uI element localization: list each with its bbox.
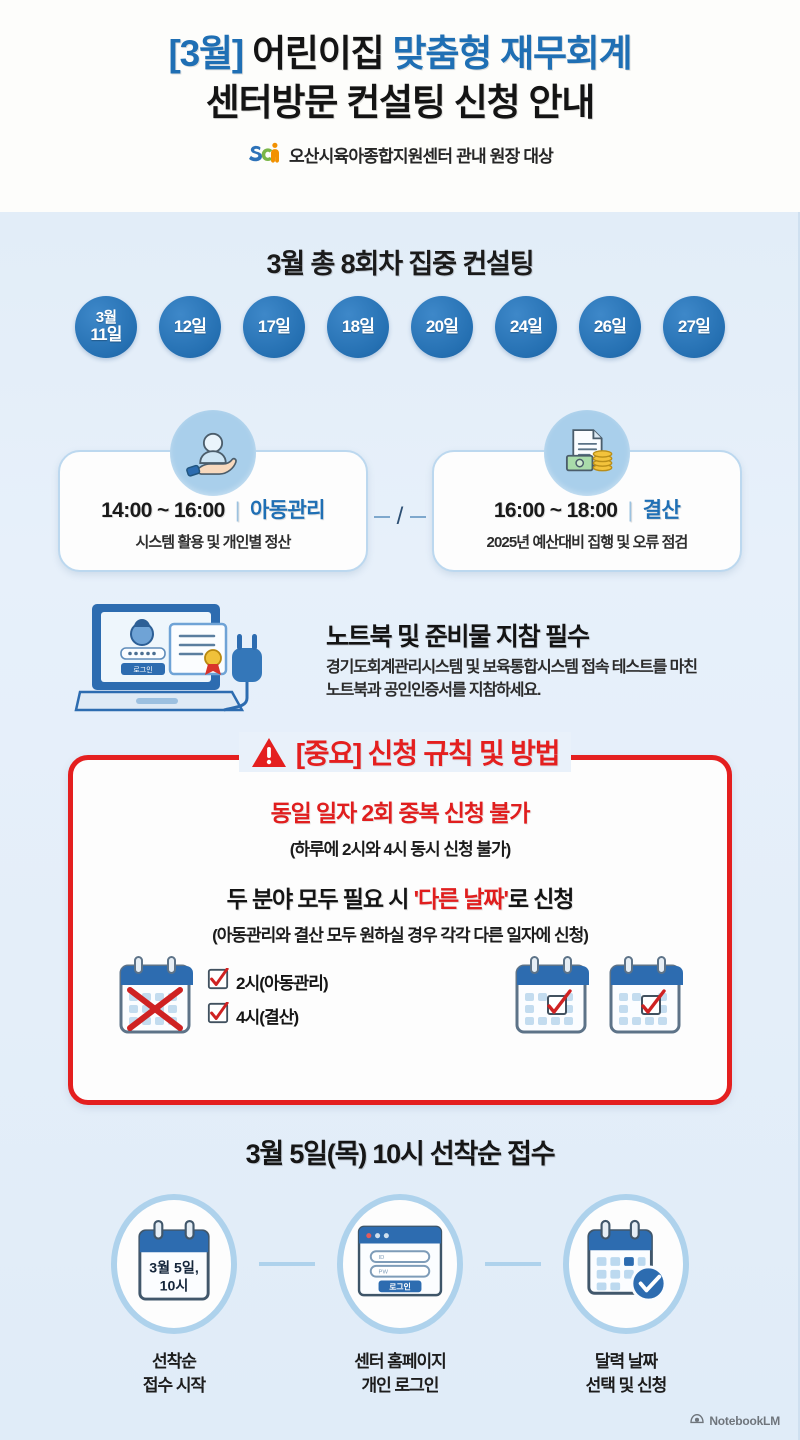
flow-label-line2: 접수 시작 — [143, 1374, 205, 1398]
schedule-heading: 3월 총 8회차 집중 컨설팅 — [0, 242, 800, 281]
rule-2-heading: 두 분야 모두 필요 시 '다른 날짜'로 신청 — [91, 880, 709, 914]
session-time: 16:00 ~ 18:00 — [494, 499, 618, 522]
flow-step-3: 달력 날짜 선택 및 신청 — [541, 1194, 711, 1398]
flow-step-label: 센터 홈페이지 개인 로그인 — [354, 1350, 446, 1398]
title-month-tag: [3월] — [169, 33, 243, 74]
notebooklm-label: NotebookLM — [709, 1414, 780, 1428]
preparation-desc-line1: 경기도회계관리시스템 및 보육통합시스템 접속 테스트를 마친 — [326, 657, 726, 680]
rules-content: 동일 일자 2회 중복 신청 불가 (하루에 2시와 4시 동시 신청 불가) … — [73, 760, 727, 946]
date-badge-line1: 20일 — [426, 318, 458, 336]
rule-2-note: (아동관리와 결산 모두 원하실 경우 각각 다른 일자에 신청) — [91, 921, 709, 946]
date-badge[interactable]: 12일 — [159, 296, 221, 358]
important-rules-box: [중요] 신청 규칙 및 방법 동일 일자 2회 중복 신청 불가 (하루에 2… — [68, 755, 732, 1105]
svg-text:PW: PW — [379, 1269, 389, 1275]
date-badge-row: 3월 11일 12일 17일 18일 20일 24일 26일 27일 — [0, 296, 800, 358]
session-separator: | — [230, 499, 245, 522]
calendar-crossed-out-icon — [117, 956, 193, 1041]
rule-2-heading-highlight: '다른 날짜' — [414, 886, 508, 912]
application-heading: 3월 5일(목) 10시 선착순 접수 — [0, 1132, 800, 1171]
preparation-block: 로그인 — [0, 590, 800, 730]
date-badge[interactable]: 24일 — [495, 296, 557, 358]
flow-label-line1: 달력 날짜 — [586, 1350, 667, 1374]
preparation-title: 노트북 및 준비물 지참 필수 — [326, 617, 726, 653]
session-time-row: 16:00 ~ 18:00 | 결산 — [494, 494, 680, 524]
calendar-date-icon: 3월 5일, 10시 — [134, 1219, 214, 1310]
svg-text:로그인: 로그인 — [389, 1281, 411, 1291]
checkbox-row[interactable]: 2시(아동관리) — [207, 968, 328, 995]
flow-step-circle: 3월 5일, 10시 — [111, 1194, 237, 1334]
warning-triangle-icon — [251, 736, 287, 768]
flow-label-line1: 센터 홈페이지 — [354, 1350, 446, 1374]
divider-dash-left — [374, 516, 390, 518]
page-title-line-1: [3월] 어린이집 맞춤형 재무회계 — [169, 30, 632, 79]
laptop-certificate-plug-icon: 로그인 — [74, 596, 304, 724]
flow-step-1: 3월 5일, 10시 선착순 접수 시작 — [89, 1194, 259, 1398]
rule-1-note: (하루에 2시와 4시 동시 신청 불가) — [91, 835, 709, 860]
notebooklm-watermark: NotebookLM — [690, 1413, 780, 1428]
checkbox-label: 4시(결산) — [236, 1003, 298, 1028]
flow-label-line1: 선착순 — [143, 1350, 205, 1374]
application-flow: 3월 5일, 10시 선착순 접수 시작 — [0, 1194, 800, 1398]
date-badge[interactable]: 20일 — [411, 296, 473, 358]
calendar-checked-icon — [607, 956, 683, 1041]
title-part-daycare: 어린이집 — [252, 33, 383, 74]
calendar-checked-icon — [513, 956, 589, 1041]
flow-step-circle: ID PW 로그인 — [337, 1194, 463, 1334]
flow-step-2: ID PW 로그인 센터 홈페이지 개인 로그인 — [315, 1194, 485, 1398]
checkbox-label: 2시(아동관리) — [236, 969, 328, 994]
flow-step-label: 선착순 접수 시작 — [143, 1350, 205, 1398]
session-divider: / — [368, 504, 432, 530]
session-card-child-management: 14:00 ~ 16:00 | 아동관리 시스템 활용 및 개인별 정산 — [58, 450, 368, 572]
flow-step-circle — [563, 1194, 689, 1334]
date-badge[interactable]: 17일 — [243, 296, 305, 358]
date-badge[interactable]: 27일 — [663, 296, 725, 358]
date-badge[interactable]: 18일 — [327, 296, 389, 358]
rule-1-heading: 동일 일자 2회 중복 신청 불가 — [91, 794, 709, 828]
forbidden-example: 2시(아동관리) 4시(결산) — [117, 956, 328, 1041]
subtitle-row: 오산시육아종합지원센터 관내 원장 대상 — [247, 142, 553, 168]
date-badge[interactable]: 26일 — [579, 296, 641, 358]
divider-slash: / — [390, 503, 411, 531]
session-description: 시스템 활용 및 개인별 정산 — [136, 531, 291, 552]
flow-label-line2: 선택 및 신청 — [586, 1374, 667, 1398]
date-badge-line1: 18일 — [342, 318, 374, 336]
session-time: 14:00 ~ 16:00 — [101, 499, 225, 522]
calendar-examples-row: 2시(아동관리) 4시(결산) — [73, 956, 727, 1041]
date-badge-line1: 27일 — [678, 318, 710, 336]
svg-text:10시: 10시 — [160, 1277, 189, 1293]
svg-text:ID: ID — [379, 1255, 385, 1261]
session-cards: 14:00 ~ 16:00 | 아동관리 시스템 활용 및 개인별 정산 / — [0, 412, 800, 572]
flow-connector — [259, 1262, 315, 1266]
session-topic: 결산 — [643, 499, 680, 522]
date-badge-line1: 24일 — [510, 318, 542, 336]
osan-center-logo-icon — [247, 142, 281, 168]
subtitle-text: 오산시육아종합지원센터 관내 원장 대상 — [289, 142, 553, 167]
date-badge-line1: 26일 — [594, 318, 626, 336]
svg-text:3월 5일,: 3월 5일, — [149, 1259, 199, 1275]
rules-title: [중요] 신청 규칙 및 방법 — [296, 732, 560, 772]
hand-holding-person-icon — [170, 410, 256, 496]
session-time-row: 14:00 ~ 16:00 | 아동관리 — [101, 494, 325, 524]
flow-connector — [485, 1262, 541, 1266]
document-money-icon — [544, 410, 630, 496]
body-panel: 3월 총 8회차 집중 컨설팅 3월 11일 12일 17일 18일 20일 2… — [0, 212, 800, 1440]
flow-label-line2: 개인 로그인 — [354, 1374, 446, 1398]
session-topic: 아동관리 — [250, 499, 325, 522]
session-card-settlement: 16:00 ~ 18:00 | 결산 2025년 예산대비 집행 및 오류 점검 — [432, 450, 742, 572]
session-separator: | — [623, 499, 638, 522]
notebooklm-icon — [690, 1413, 704, 1428]
page-title-line-2: 센터방문 컨설팅 신청 안내 — [206, 79, 594, 128]
date-badge-line1: 17일 — [258, 318, 290, 336]
checkbox-row[interactable]: 4시(결산) — [207, 1002, 328, 1029]
checkbox-checked-icon[interactable] — [207, 968, 229, 995]
preparation-desc-line2: 노트북과 공인인증서를 지참하세요. — [326, 680, 726, 703]
infographic-page: [3월] 어린이집 맞춤형 재무회계 센터방문 컨설팅 신청 안내 오산시육아종… — [0, 0, 800, 1440]
login-window-icon: ID PW 로그인 — [355, 1223, 445, 1306]
title-part-finance: 맞춤형 재무회계 — [393, 33, 632, 74]
divider-dash-right — [410, 516, 426, 518]
date-badge[interactable]: 3월 11일 — [75, 296, 137, 358]
header: [3월] 어린이집 맞춤형 재무회계 센터방문 컨설팅 신청 안내 오산시육아종… — [0, 0, 800, 212]
date-badge-line2: 11일 — [90, 326, 121, 344]
checkbox-list: 2시(아동관리) 4시(결산) — [207, 968, 328, 1029]
allowed-examples — [513, 956, 683, 1041]
calendar-confirmed-icon — [583, 1219, 669, 1310]
svg-text:로그인: 로그인 — [133, 665, 152, 674]
rule-2-heading-a: 두 분야 모두 필요 시 — [227, 886, 414, 912]
flow-step-label: 달력 날짜 선택 및 신청 — [586, 1350, 667, 1398]
rule-2-heading-b: 로 신청 — [508, 886, 573, 912]
date-badge-line1: 3월 — [96, 310, 117, 326]
date-badge-line1: 12일 — [174, 318, 206, 336]
rules-title-row: [중요] 신청 규칙 및 방법 — [73, 732, 737, 772]
checkbox-checked-icon[interactable] — [207, 1002, 229, 1029]
preparation-text: 노트북 및 준비물 지참 필수 경기도회계관리시스템 및 보육통합시스템 접속 … — [326, 617, 726, 702]
session-description: 2025년 예산대비 집행 및 오류 점검 — [487, 531, 688, 552]
